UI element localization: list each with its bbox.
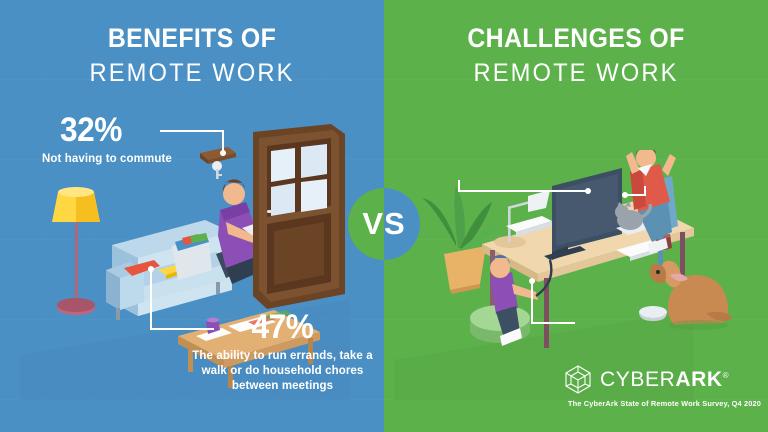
stat-47-caption: The ability to run errands, take a walk … [190, 349, 375, 395]
versus-label: VS [348, 188, 420, 260]
infographic-canvas: BENEFITS OF REMOTE WORK 32% Not having t… [0, 0, 768, 432]
dog-bowl-icon [636, 303, 670, 325]
benefits-heading: BENEFITS OF REMOTE WORK [0, 25, 384, 86]
stat-47: 47% The ability to run errands, take a w… [190, 310, 375, 395]
benefits-heading-line2: REMOTE WORK [10, 61, 375, 86]
challenges-heading-line2: REMOTE WORK [394, 61, 759, 86]
benefits-heading-line1: BENEFITS OF [15, 25, 368, 52]
stat-32-caption: Not having to commute [42, 152, 172, 167]
potted-plant-icon [422, 186, 500, 294]
cyberark-word-part1: CYBER [600, 368, 675, 391]
cyberark-cube-icon [563, 364, 593, 394]
challenges-heading: CHALLENGES OF REMOTE WORK [384, 25, 768, 86]
connector-78 [529, 278, 599, 328]
trademark-symbol: ® [723, 371, 730, 380]
connector-34 [458, 180, 593, 194]
cyberark-word-part2: ARK [675, 368, 722, 391]
survey-footnote: The CyberArk State of Remote Work Survey… [562, 399, 767, 408]
versus-badge: VS [348, 188, 420, 260]
benefits-panel: BENEFITS OF REMOTE WORK 32% Not having t… [0, 0, 384, 432]
floor-lamp-icon [52, 187, 100, 315]
stat-32: 32% Not having to commute [42, 113, 172, 167]
cyberark-wordmark: CYBERARK® [600, 369, 729, 390]
connector-45 [622, 186, 648, 210]
cyberark-logo: CYBERARK® [563, 364, 729, 394]
stat-32-value: 32% [60, 113, 164, 147]
stat-47-value: 47% [196, 310, 368, 344]
challenges-heading-line1: CHALLENGES OF [399, 25, 752, 52]
